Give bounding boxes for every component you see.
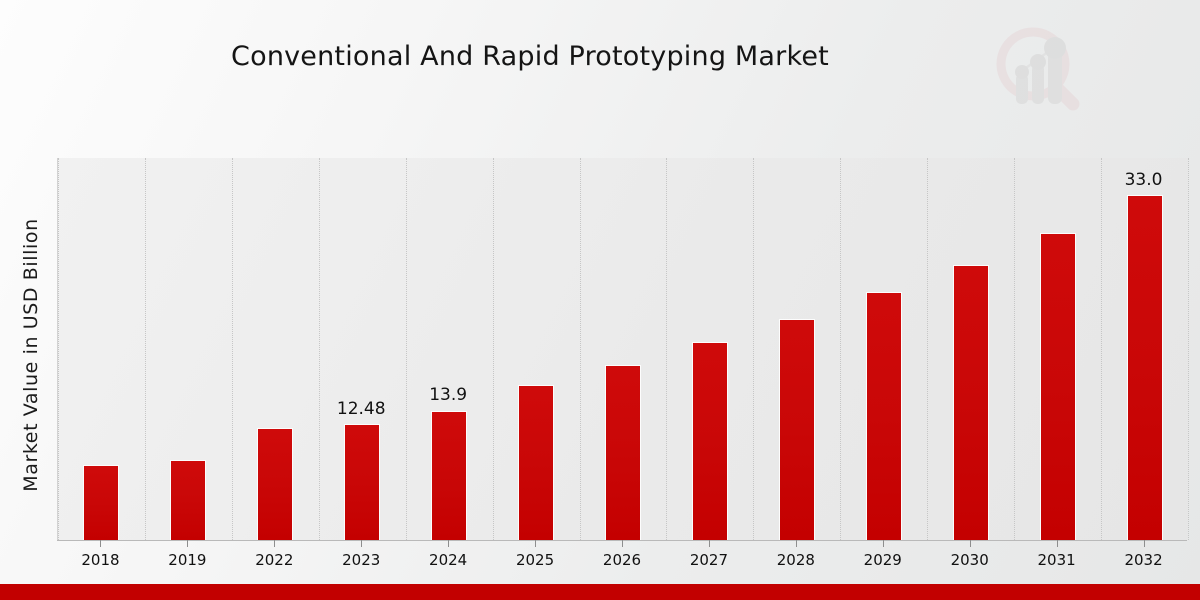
x-tick [1144, 540, 1145, 547]
bar-value-label-2023: 12.48 [316, 399, 406, 419]
logo-svg [993, 24, 1085, 116]
plot-area [57, 158, 1188, 540]
bar-value-label-2032: 33.0 [1099, 170, 1189, 190]
page-title: Conventional And Rapid Prototyping Marke… [0, 41, 1060, 72]
bar-2025[interactable] [518, 385, 554, 540]
x-tick-label-2031: 2031 [1012, 551, 1102, 569]
x-tick [1057, 540, 1058, 547]
x-tick-label-2027: 2027 [664, 551, 754, 569]
gridline [493, 158, 494, 540]
gridline [406, 158, 407, 540]
x-tick [100, 540, 101, 547]
x-tick-label-2018: 2018 [55, 551, 145, 569]
magnifying-glass-bar-chart-logo [993, 24, 1085, 116]
x-tick [970, 540, 971, 547]
x-tick-label-2022: 2022 [229, 551, 319, 569]
bar-2028[interactable] [779, 319, 815, 540]
bar-2029[interactable] [866, 292, 902, 540]
x-tick-label-2030: 2030 [925, 551, 1015, 569]
bar-value-label-2024: 13.9 [403, 385, 493, 405]
x-tick-label-2019: 2019 [142, 551, 232, 569]
x-tick-label-2026: 2026 [577, 551, 667, 569]
bar-2027[interactable] [692, 342, 728, 540]
gridline [753, 158, 754, 540]
bar-2019[interactable] [170, 460, 206, 540]
x-tick-label-2028: 2028 [751, 551, 841, 569]
bar-2024[interactable] [431, 411, 467, 541]
x-tick-label-2023: 2023 [316, 551, 406, 569]
x-tick [535, 540, 536, 547]
bar-2018[interactable] [83, 465, 119, 540]
gridline [1014, 158, 1015, 540]
gridline [232, 158, 233, 540]
x-tick-label-2025: 2025 [490, 551, 580, 569]
bar-2031[interactable] [1040, 233, 1076, 540]
x-tick-label-2024: 2024 [403, 551, 493, 569]
gridline [319, 158, 320, 540]
x-tick [187, 540, 188, 547]
bar-2026[interactable] [605, 365, 641, 540]
chart-page: Conventional And Rapid Prototyping Marke… [0, 0, 1200, 600]
gridline [840, 158, 841, 540]
bar-2022[interactable] [257, 428, 293, 540]
x-tick [448, 540, 449, 547]
gridline [1101, 158, 1102, 540]
x-tick [274, 540, 275, 547]
gridline [145, 158, 146, 540]
x-tick-label-2032: 2032 [1099, 551, 1189, 569]
gridline [1188, 158, 1189, 540]
gridline [580, 158, 581, 540]
bar-2030[interactable] [953, 265, 989, 540]
y-axis-title: Market Value in USD Billion [20, 155, 42, 555]
bar-2032[interactable] [1127, 195, 1163, 540]
x-tick [709, 540, 710, 547]
x-tick [796, 540, 797, 547]
gridline [666, 158, 667, 540]
gridline [927, 158, 928, 540]
x-tick [622, 540, 623, 547]
x-tick [361, 540, 362, 547]
footer-accent-bar [0, 584, 1200, 600]
x-tick [883, 540, 884, 547]
gridline [58, 158, 59, 540]
bar-2023[interactable] [344, 424, 380, 540]
x-tick-label-2029: 2029 [838, 551, 928, 569]
